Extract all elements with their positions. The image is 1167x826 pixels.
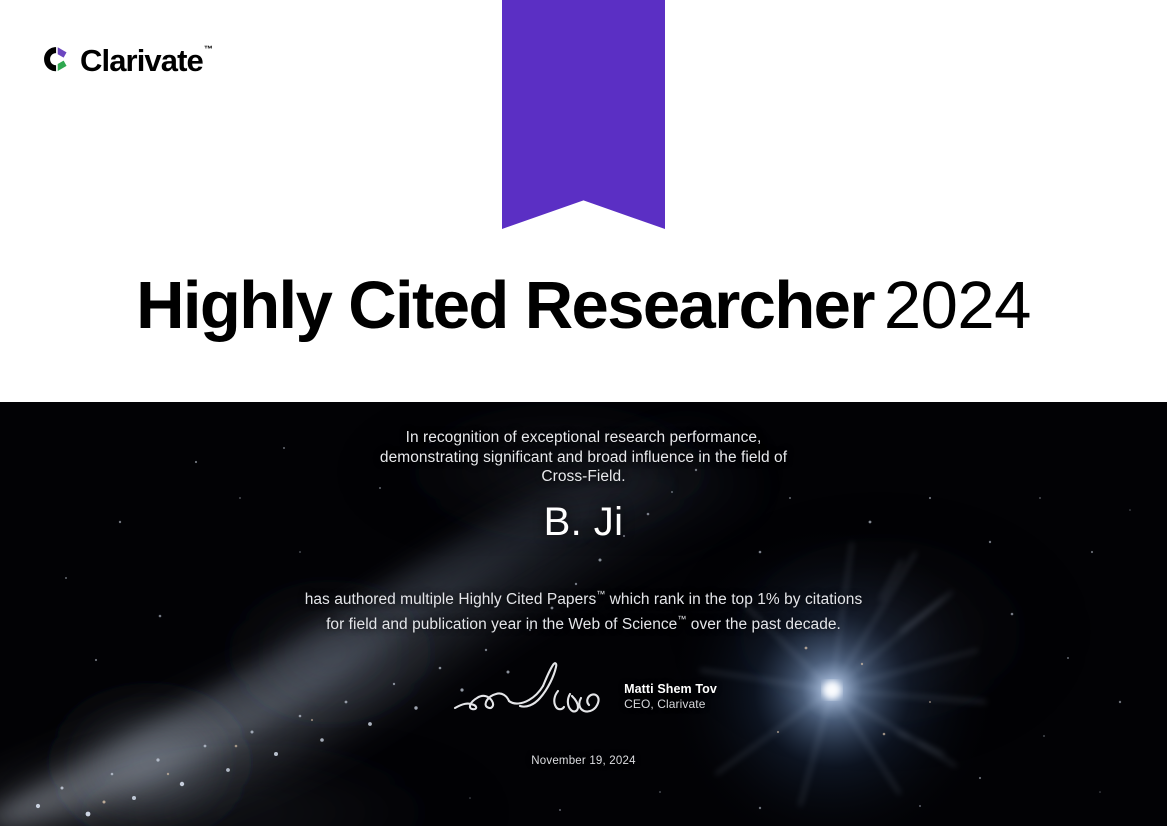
- recognition-line-2: demonstrating significant and broad infl…: [0, 448, 1167, 468]
- citation-line-1: has authored multiple Highly Cited Paper…: [0, 585, 1167, 610]
- award-year: 2024: [884, 268, 1031, 343]
- recipient-name: B. Ji: [0, 500, 1167, 545]
- citation-line-2-text: for field and publication year in the We…: [326, 616, 677, 633]
- clarivate-logo: Clarivate™: [40, 40, 212, 78]
- award-title: Highly Cited Researcher: [136, 268, 874, 343]
- page-title: Highly Cited Researcher2024: [0, 272, 1167, 339]
- signatory-details: Matti Shem Tov CEO, Clarivate: [624, 682, 717, 712]
- recognition-line-1: In recognition of exceptional research p…: [0, 428, 1167, 448]
- certificate-top-panel: Clarivate™ Highly Cited Researcher2024: [0, 0, 1167, 402]
- clarivate-wordmark: Clarivate™: [80, 45, 212, 76]
- signatory-name: Matti Shem Tov: [624, 682, 717, 697]
- issue-date: November 19, 2024: [0, 755, 1167, 767]
- handwritten-signature-icon: [450, 660, 610, 722]
- trademark-symbol: ™: [596, 589, 605, 599]
- purple-ribbon-banner-icon: [502, 0, 665, 229]
- citation-line-2: for field and publication year in the We…: [0, 610, 1167, 635]
- citation-line-2-tail: over the past decade.: [686, 616, 840, 633]
- clarivate-hexagon-logo-icon: [40, 44, 71, 75]
- signature-block: Matti Shem Tov CEO, Clarivate: [0, 660, 1167, 722]
- signatory-title: CEO, Clarivate: [624, 697, 717, 712]
- citation-line-1-text: has authored multiple Highly Cited Paper…: [305, 591, 597, 608]
- recognition-statement: In recognition of exceptional research p…: [0, 428, 1167, 487]
- certificate-bottom-panel: In recognition of exceptional research p…: [0, 402, 1167, 826]
- trademark-symbol: ™: [677, 614, 686, 624]
- highly-cited-researcher-certificate: Clarivate™ Highly Cited Researcher2024: [0, 0, 1167, 826]
- research-field: Cross-Field.: [0, 467, 1167, 487]
- trademark-symbol: ™: [204, 44, 213, 54]
- citation-statement: has authored multiple Highly Cited Paper…: [0, 585, 1167, 635]
- citation-line-1-tail: which rank in the top 1% by citations: [605, 591, 862, 608]
